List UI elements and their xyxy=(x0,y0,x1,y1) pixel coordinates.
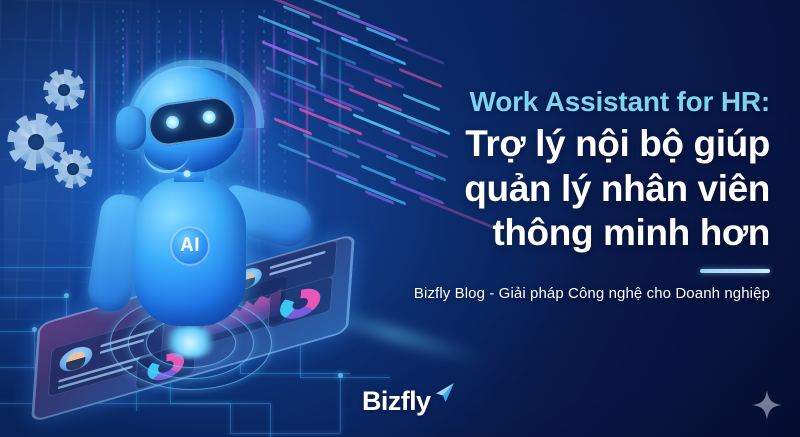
bizfly-logo-text: Bizfly xyxy=(362,386,430,417)
ai-hr-illustration: AI xyxy=(10,28,370,428)
robot-eye-right xyxy=(202,110,217,125)
gear-icon xyxy=(48,74,80,106)
robot-eye-left xyxy=(165,115,180,130)
bizfly-hr-blog-banner: AI Work Assistant for HR: Trợ lý nội bộ … xyxy=(0,0,800,437)
sparkle-icon xyxy=(752,390,782,420)
headline-line-1: Trợ lý nội bộ giúp xyxy=(350,122,770,166)
paper-plane-icon xyxy=(432,382,456,409)
gear-icon xyxy=(14,120,58,164)
ai-chest-badge: AI xyxy=(170,226,210,266)
gear-icon xyxy=(58,154,88,184)
headphone-earcup-icon xyxy=(116,106,146,150)
tagline-text: Bizfly Blog - Giải pháp Công nghệ cho Do… xyxy=(350,285,770,302)
headline-block: Work Assistant for HR: Trợ lý nội bộ giú… xyxy=(350,86,770,302)
eyebrow-text: Work Assistant for HR: xyxy=(350,86,770,117)
robot-character: AI xyxy=(88,66,298,331)
headline-line-2: quản lý nhân viên xyxy=(350,167,770,211)
divider xyxy=(700,269,770,273)
bizfly-logo[interactable]: Bizfly xyxy=(362,386,456,417)
headline-line-3: thông minh hơn xyxy=(350,211,770,255)
page-title: Trợ lý nội bộ giúp quản lý nhân viên thô… xyxy=(350,122,770,255)
